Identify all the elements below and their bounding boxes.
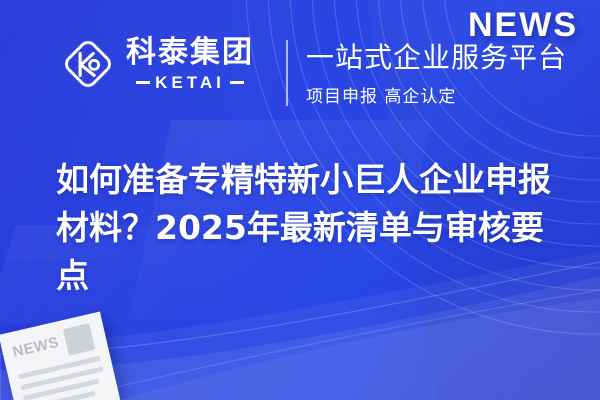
header-divider (286, 40, 288, 106)
dash-right-icon (230, 81, 244, 84)
banner-header: 科泰集团 KETAI 一站式企业服务平台 项目申报 高企认定 NEWS (0, 0, 600, 140)
brand-logo[interactable]: 科泰集团 KETAI (60, 36, 254, 92)
image-placeholder-icon (63, 323, 95, 355)
ketai-diamond-k-logo-icon (60, 36, 116, 92)
news-label: NEWS (468, 6, 578, 45)
slogan-block: 一站式企业服务平台 项目申报 高企认定 (306, 42, 567, 107)
page-title: 如何准备专精特新小巨人企业申报材料？2025年最新清单与审核要点 (56, 156, 576, 300)
brand-wordmark: 科泰集团 KETAI (126, 38, 254, 91)
brand-name-en-row: KETAI (136, 74, 244, 91)
dash-left-icon (136, 81, 150, 84)
news-banner: 科泰集团 KETAI 一站式企业服务平台 项目申报 高企认定 NEWS 如何准备… (0, 0, 600, 400)
brand-name-cn: 科泰集团 (126, 38, 254, 68)
newspaper-title: NEWS (11, 335, 60, 360)
slogan-main: 一站式企业服务平台 (306, 42, 567, 74)
brand-name-en: KETAI (155, 74, 225, 91)
slogan-sub: 项目申报 高企认定 (306, 82, 567, 107)
